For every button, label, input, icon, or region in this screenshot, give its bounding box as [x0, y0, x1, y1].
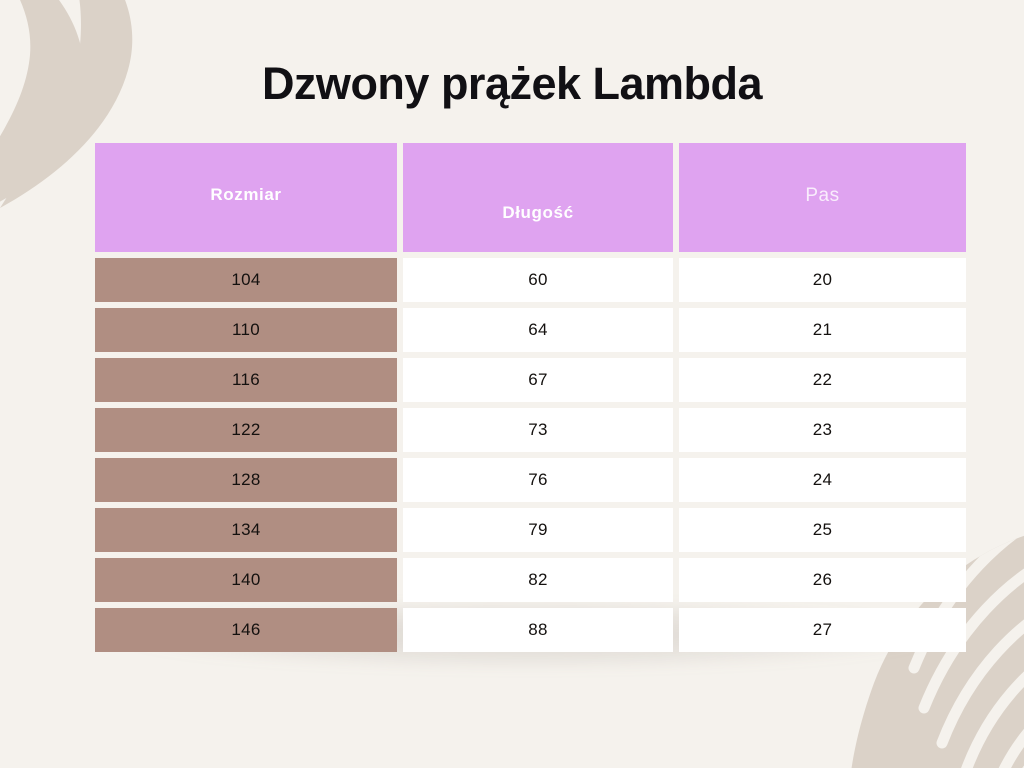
table-header-label-pas: Pas	[805, 185, 839, 207]
cell-value: 110	[232, 320, 260, 340]
table-cell-dlugosc: 76	[403, 458, 673, 502]
cell-value: 73	[528, 420, 548, 440]
table-cell-rozmiar: 140	[95, 558, 397, 602]
cell-value: 21	[813, 320, 833, 340]
cell-value: 20	[813, 270, 833, 290]
table-cell-rozmiar: 104	[95, 258, 397, 302]
table-row: 104 60 20	[95, 258, 966, 302]
table-cell-pas: 22	[679, 358, 966, 402]
cell-value: 67	[528, 370, 548, 390]
cell-value: 88	[528, 620, 548, 640]
page-title: Dzwony prążek Lambda	[0, 58, 1024, 110]
table-cell-dlugosc: 82	[403, 558, 673, 602]
cell-value: 76	[528, 470, 548, 490]
size-table: Rozmiar Długość Pas 104 60 20 110	[95, 143, 966, 652]
table-header-rozmiar[interactable]: Rozmiar	[95, 143, 397, 252]
table-cell-rozmiar: 116	[95, 358, 397, 402]
cell-value: 23	[813, 420, 833, 440]
cell-value: 146	[231, 620, 260, 640]
cell-value: 79	[528, 520, 548, 540]
cell-value: 134	[231, 520, 260, 540]
table-cell-dlugosc: 64	[403, 308, 673, 352]
table-header-pas[interactable]: Pas	[679, 143, 966, 252]
table-header-row: Rozmiar Długość Pas	[95, 143, 966, 252]
table-cell-pas: 23	[679, 408, 966, 452]
table-cell-pas: 27	[679, 608, 966, 652]
slide-canvas: Dzwony prążek Lambda Rozmiar Długość Pas…	[0, 0, 1024, 768]
cell-value: 122	[231, 420, 260, 440]
table-cell-pas: 26	[679, 558, 966, 602]
cell-value: 116	[232, 370, 260, 390]
table-row: 116 67 22	[95, 358, 966, 402]
cell-value: 128	[231, 470, 260, 490]
cell-value: 26	[813, 570, 833, 590]
table-row: 122 73 23	[95, 408, 966, 452]
cell-value: 82	[528, 570, 548, 590]
cell-value: 60	[528, 270, 548, 290]
table-cell-rozmiar: 128	[95, 458, 397, 502]
table-cell-pas: 21	[679, 308, 966, 352]
table-header-label-dlugosc: Długość	[502, 203, 573, 223]
cell-value: 25	[813, 520, 833, 540]
table-row: 140 82 26	[95, 558, 966, 602]
table-cell-rozmiar: 146	[95, 608, 397, 652]
cell-value: 104	[231, 270, 260, 290]
table-row: 128 76 24	[95, 458, 966, 502]
cell-value: 24	[813, 470, 833, 490]
table-cell-rozmiar: 110	[95, 308, 397, 352]
table-header-label-rozmiar: Rozmiar	[210, 185, 281, 205]
cell-value: 27	[813, 620, 833, 640]
cell-value: 64	[528, 320, 548, 340]
table-row: 134 79 25	[95, 508, 966, 552]
table-cell-pas: 20	[679, 258, 966, 302]
table-cell-pas: 24	[679, 458, 966, 502]
table-cell-dlugosc: 88	[403, 608, 673, 652]
table-cell-rozmiar: 122	[95, 408, 397, 452]
table-cell-dlugosc: 67	[403, 358, 673, 402]
table-cell-dlugosc: 79	[403, 508, 673, 552]
table-header-dlugosc[interactable]: Długość	[403, 143, 673, 252]
cell-value: 22	[813, 370, 833, 390]
table-row: 146 88 27	[95, 608, 966, 652]
cell-value: 140	[231, 570, 260, 590]
table-cell-pas: 25	[679, 508, 966, 552]
table-row: 110 64 21	[95, 308, 966, 352]
table-cell-rozmiar: 134	[95, 508, 397, 552]
table-cell-dlugosc: 73	[403, 408, 673, 452]
table-cell-dlugosc: 60	[403, 258, 673, 302]
